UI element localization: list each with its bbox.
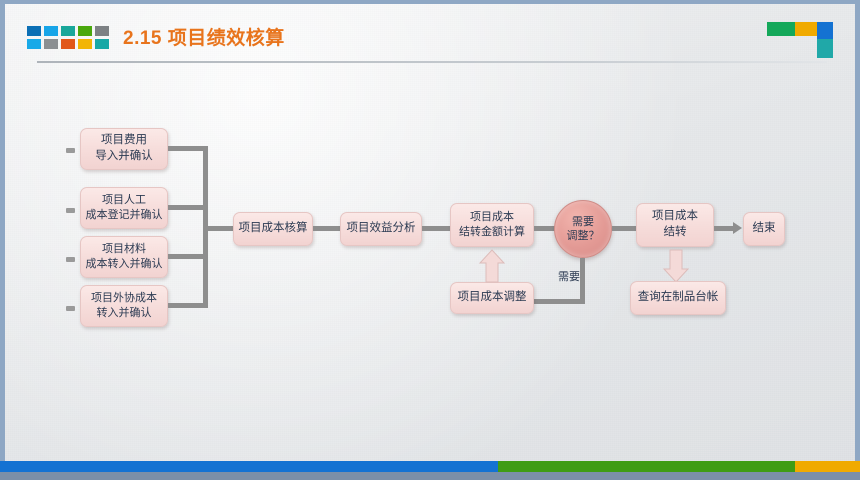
arrowhead-to-end — [733, 222, 742, 234]
node-carryover-amount-calc[interactable]: 项目成本 结转金额计算 — [450, 203, 534, 247]
stub-material — [66, 257, 75, 262]
flag-green — [767, 22, 795, 36]
flag-teal — [817, 39, 833, 58]
node-end[interactable]: 结束 — [743, 212, 785, 246]
edge-label-need: 需要 — [558, 268, 580, 284]
flag-blue — [817, 22, 833, 39]
connector-expense-to-bus — [168, 146, 208, 151]
swatch-light-blue — [44, 26, 58, 36]
connector-labor-to-bus — [168, 205, 208, 210]
connector-analysis-to-carryover-calc — [422, 226, 450, 231]
connector-down-to-adjustment — [534, 299, 585, 304]
slide-header: 2.15 项目绩效核算 — [5, 4, 855, 60]
footer-bar-orange — [795, 461, 860, 472]
hollow-arrow-up-to-calc — [478, 248, 506, 289]
connector-bus-to-cost-accounting — [203, 226, 233, 231]
connector-decision-to-carryover — [612, 226, 636, 231]
connector-accounting-to-analysis — [313, 226, 340, 231]
swatch-green — [78, 26, 92, 36]
slide-bottom-border — [0, 472, 860, 480]
node-need-adjustment-decision[interactable]: 需要 调整？ — [554, 200, 612, 258]
stub-outsourcing — [66, 306, 75, 311]
stub-expense — [66, 148, 75, 153]
page-title: 2.15 项目绩效核算 — [123, 23, 285, 50]
swatch-cyan — [27, 39, 41, 49]
swatch-teal2 — [95, 39, 109, 49]
swatch-grid — [27, 26, 109, 49]
node-project-expense-import[interactable]: 项目费用 导入并确认 — [80, 128, 168, 170]
node-project-labor-cost[interactable]: 项目人工 成本登记并确认 — [80, 187, 168, 229]
stub-labor — [66, 208, 75, 213]
node-project-benefit-analysis[interactable]: 项目效益分析 — [340, 212, 422, 246]
flowchart: 项目费用 导入并确认 项目人工 成本登记并确认 项目材料 成本转入并确认 项目外… — [0, 60, 860, 450]
node-project-cost-accounting[interactable]: 项目成本核算 — [233, 212, 313, 246]
connector-decision-down — [580, 258, 585, 304]
swatch-gray — [95, 26, 109, 36]
node-project-material-cost[interactable]: 项目材料 成本转入并确认 — [80, 236, 168, 278]
swatch-dark-blue — [27, 26, 41, 36]
node-project-cost-carryover[interactable]: 项目成本 结转 — [636, 203, 714, 247]
footer-bar-blue — [0, 461, 498, 472]
footer-bar-green — [498, 461, 795, 472]
swatch-amber — [78, 39, 92, 49]
corner-flag-decoration — [767, 22, 833, 58]
connector-outsourcing-to-bus — [168, 303, 208, 308]
node-wip-ledger-query[interactable]: 查询在制品台帐 — [630, 281, 726, 315]
slide-canvas: 2.15 项目绩效核算 项目费用 导入并确认 项目人工 成本登记并确认 项目材料… — [0, 0, 860, 480]
flag-amber — [795, 22, 817, 36]
node-project-outsourcing-cost[interactable]: 项目外协成本 转入并确认 — [80, 285, 168, 327]
swatch-gray2 — [44, 39, 58, 49]
swatch-teal — [61, 26, 75, 36]
swatch-orange-red — [61, 39, 75, 49]
connector-material-to-bus — [168, 254, 208, 259]
connector-carryover-to-end — [714, 226, 734, 231]
